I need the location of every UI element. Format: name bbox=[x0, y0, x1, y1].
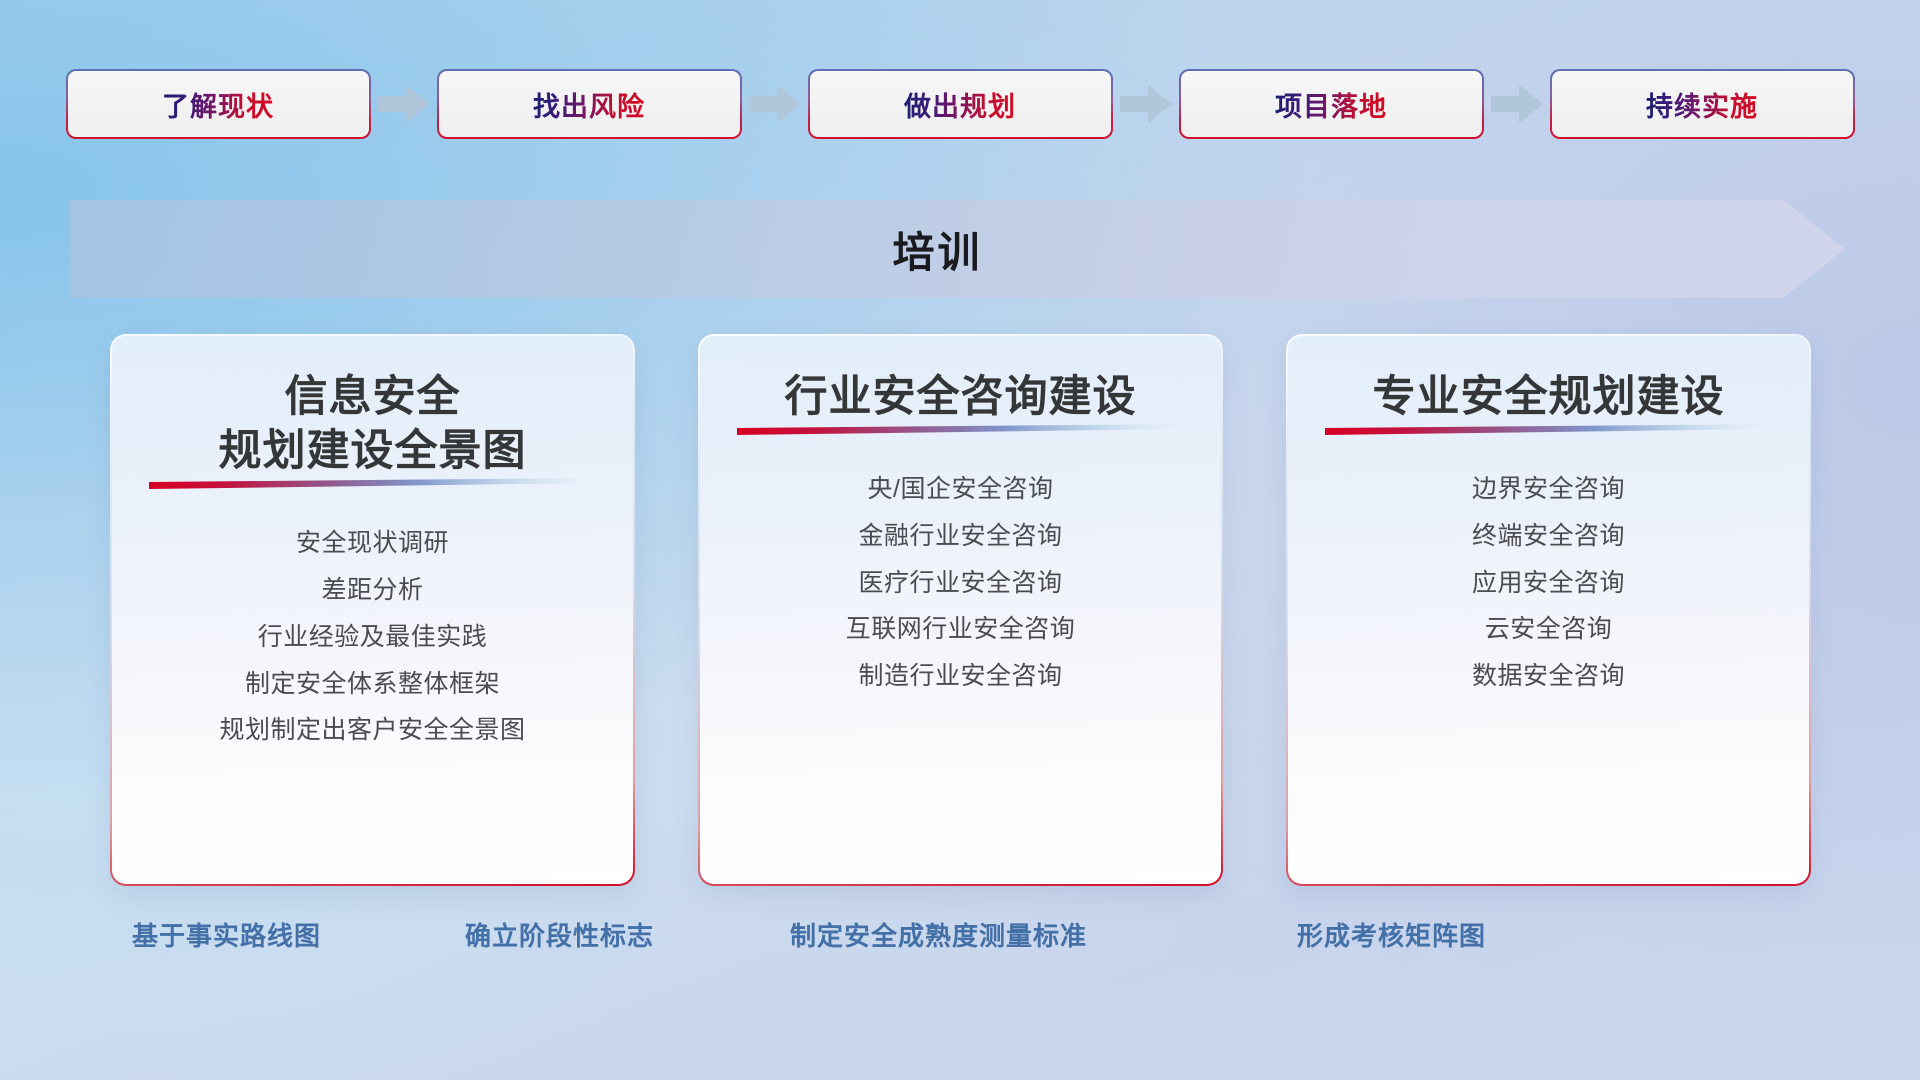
card-1-inner: 信息安全 规划建设全景图 bbox=[112, 336, 633, 884]
card-1-header: 信息安全 规划建设全景图 bbox=[112, 336, 633, 478]
list-item: 终端安全咨询 bbox=[1472, 520, 1625, 554]
list-item: 差距分析 bbox=[321, 574, 423, 608]
step-label-4: 项目落地 bbox=[1275, 85, 1387, 124]
step-inner-1: 了解现状 bbox=[68, 71, 369, 137]
list-item: 制造行业安全咨询 bbox=[858, 660, 1062, 694]
footnote-2: 确立阶段性标志 bbox=[465, 916, 654, 953]
banner-title: 培训 bbox=[70, 200, 1845, 298]
step-connector-arrow-icon-2 bbox=[742, 83, 808, 125]
footnote-3: 制定安全成熟度测量标准 bbox=[790, 916, 1087, 953]
list-item: 云安全咨询 bbox=[1485, 613, 1613, 647]
card-1-divider bbox=[149, 478, 597, 489]
list-item: 互联网行业安全咨询 bbox=[846, 613, 1076, 647]
step-label-5: 持续实施 bbox=[1646, 85, 1758, 124]
card-2-list: 央/国企安全咨询 金融行业安全咨询 医疗行业安全咨询 互联网行业安全咨询 制造行… bbox=[700, 435, 1221, 728]
card-3-header: 专业安全规划建设 bbox=[1288, 336, 1809, 424]
card-2[interactable]: 行业安全咨询建设 bbox=[698, 334, 1223, 886]
card-1-list: 安全现状调研 差距分析 行业经验及最佳实践 制定安全体系整体框架 规划制定出客户… bbox=[112, 489, 633, 782]
list-item: 边界安全咨询 bbox=[1472, 473, 1625, 507]
step-inner-4: 项目落地 bbox=[1181, 71, 1482, 137]
card-2-divider-row bbox=[700, 424, 1221, 435]
step-connector-arrow-icon-1 bbox=[371, 83, 437, 125]
step-inner-3: 做出规划 bbox=[810, 71, 1111, 137]
card-1[interactable]: 信息安全 规划建设全景图 bbox=[110, 334, 635, 886]
card-1-title: 信息安全 规划建设全景图 bbox=[112, 370, 633, 478]
step-inner-2: 找出风险 bbox=[439, 71, 740, 137]
list-item: 应用安全咨询 bbox=[1472, 567, 1625, 601]
list-item: 医疗行业安全咨询 bbox=[858, 567, 1062, 601]
card-2-title: 行业安全咨询建设 bbox=[700, 370, 1221, 424]
card-3-inner: 专业安全规划建设 bbox=[1288, 336, 1809, 884]
card-1-divider-row bbox=[112, 478, 633, 489]
card-3-divider-row bbox=[1288, 424, 1809, 435]
card-2-inner: 行业安全咨询建设 bbox=[700, 336, 1221, 884]
step-box-5[interactable]: 持续实施 bbox=[1550, 69, 1855, 139]
training-banner: 培训 bbox=[70, 200, 1845, 298]
step-box-2[interactable]: 找出风险 bbox=[437, 69, 742, 139]
step-label-1: 了解现状 bbox=[162, 85, 274, 124]
card-3-divider bbox=[1325, 424, 1773, 435]
footnote-row: 基于事实路线图 确立阶段性标志 制定安全成熟度测量标准 形成考核矩阵图 bbox=[0, 916, 1920, 964]
list-item: 央/国企安全咨询 bbox=[868, 473, 1054, 507]
card-3-title: 专业安全规划建设 bbox=[1288, 370, 1809, 424]
list-item: 金融行业安全咨询 bbox=[858, 520, 1062, 554]
step-label-3: 做出规划 bbox=[904, 85, 1016, 124]
step-label-2: 找出风险 bbox=[533, 85, 645, 124]
step-box-4[interactable]: 项目落地 bbox=[1179, 69, 1484, 139]
list-item: 数据安全咨询 bbox=[1472, 660, 1625, 694]
footnote-4: 形成考核矩阵图 bbox=[1297, 916, 1486, 953]
list-item: 行业经验及最佳实践 bbox=[258, 621, 488, 655]
footnote-1: 基于事实路线图 bbox=[132, 916, 321, 953]
process-steps-row: 了解现状 找出风险 做出规划 项目落地 持续实施 bbox=[0, 68, 1920, 140]
card-3[interactable]: 专业安全规划建设 bbox=[1286, 334, 1811, 886]
card-3-list: 边界安全咨询 终端安全咨询 应用安全咨询 云安全咨询 数据安全咨询 bbox=[1288, 435, 1809, 728]
list-item: 规划制定出客户安全全景图 bbox=[219, 714, 525, 748]
list-item: 安全现状调研 bbox=[296, 527, 449, 561]
capability-cards: 信息安全 规划建设全景图 bbox=[110, 334, 1810, 886]
list-item: 制定安全体系整体框架 bbox=[245, 668, 500, 702]
step-inner-5: 持续实施 bbox=[1552, 71, 1853, 137]
card-2-header: 行业安全咨询建设 bbox=[700, 336, 1221, 424]
step-connector-arrow-icon-4 bbox=[1484, 83, 1550, 125]
step-connector-arrow-icon-3 bbox=[1113, 83, 1179, 125]
step-box-3[interactable]: 做出规划 bbox=[808, 69, 1113, 139]
card-2-divider bbox=[737, 424, 1185, 435]
step-box-1[interactable]: 了解现状 bbox=[66, 69, 371, 139]
